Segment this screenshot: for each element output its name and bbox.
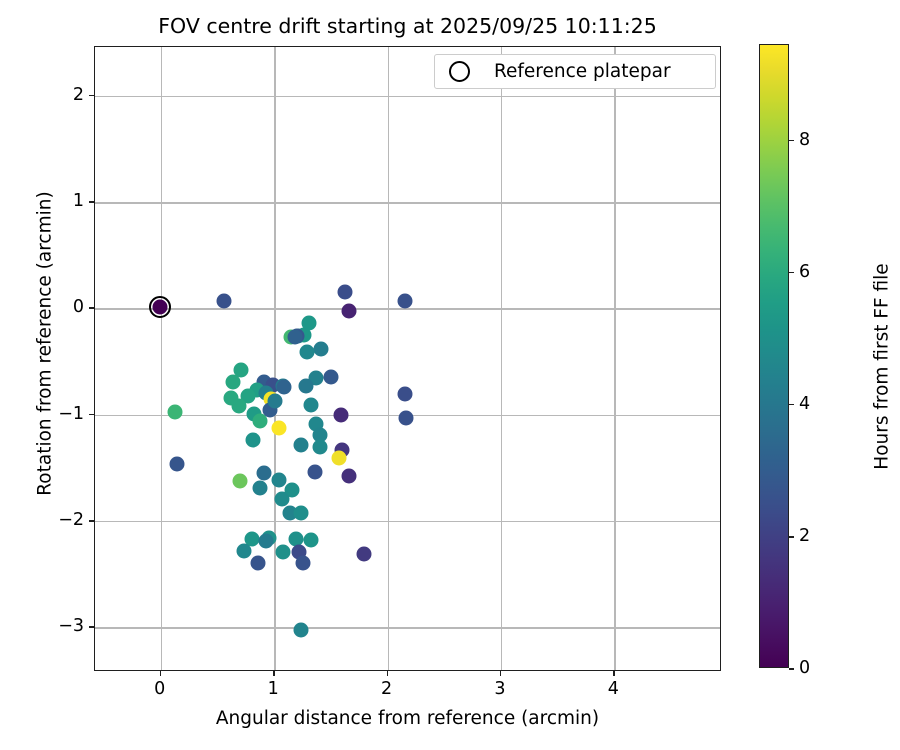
x-tick-mark — [160, 671, 162, 676]
scatter-point — [252, 481, 267, 496]
scatter-point — [294, 437, 309, 452]
scatter-point — [337, 284, 352, 299]
y-tick-mark — [89, 201, 94, 203]
x-tick-label: 3 — [494, 679, 505, 699]
gridline-horizontal — [95, 627, 720, 628]
gridline-vertical — [161, 47, 162, 670]
scatter-point — [312, 439, 327, 454]
scatter-point — [236, 543, 251, 558]
scatter-point — [251, 555, 266, 570]
scatter-point — [169, 456, 184, 471]
x-tick-label: 0 — [154, 679, 165, 699]
scatter-point — [398, 411, 413, 426]
gridline-horizontal — [95, 96, 720, 97]
scatter-point — [295, 555, 310, 570]
gridline-horizontal — [95, 521, 720, 522]
x-tick-mark — [387, 671, 389, 676]
scatter-point — [268, 394, 283, 409]
x-tick-label: 4 — [608, 679, 619, 699]
x-tick-mark — [500, 671, 502, 676]
legend-entry-label: Reference platepar — [494, 61, 671, 82]
colorbar-tick-mark — [789, 404, 794, 406]
scatter-point — [342, 469, 357, 484]
colorbar-tick-mark — [789, 668, 794, 670]
scatter-point — [300, 345, 315, 360]
scatter-point — [308, 465, 323, 480]
scatter-point — [167, 404, 182, 419]
scatter-point — [217, 294, 232, 309]
colorbar-tick-label: 0 — [799, 658, 810, 678]
scatter-point — [313, 341, 328, 356]
gridline-horizontal — [95, 308, 720, 309]
gridline-vertical — [501, 47, 502, 670]
y-tick-label: 1 — [73, 191, 84, 211]
scatter-point — [276, 544, 291, 559]
x-tick-mark — [273, 671, 275, 676]
colorbar-tick-mark — [789, 272, 794, 274]
scatter-point — [277, 380, 292, 395]
y-tick-mark — [89, 307, 94, 309]
scatter-point — [294, 622, 309, 637]
y-tick-label: −3 — [58, 616, 84, 636]
gridline-vertical — [388, 47, 389, 670]
y-tick-label: 0 — [73, 297, 84, 317]
scatter-point — [257, 466, 272, 481]
colorbar-tick-label: 4 — [799, 394, 810, 414]
scatter-point — [331, 451, 346, 466]
y-tick-mark — [89, 95, 94, 97]
scatter-point — [275, 491, 290, 506]
chart-title: FOV centre drift starting at 2025/09/25 … — [0, 14, 815, 38]
scatter-point — [323, 369, 338, 384]
colorbar-gradient — [759, 44, 789, 668]
x-axis-label: Angular distance from reference (arcmin) — [94, 708, 721, 729]
colorbar-label: Hours from first FF file — [872, 47, 893, 687]
x-tick-label: 1 — [268, 679, 279, 699]
y-tick-label: −2 — [58, 510, 84, 530]
scatter-point — [233, 473, 248, 488]
scatter-point — [356, 547, 371, 562]
figure-canvas: FOV centre drift starting at 2025/09/25 … — [0, 0, 900, 750]
scatter-point — [342, 303, 357, 318]
scatter-point — [259, 534, 274, 549]
y-tick-mark — [89, 520, 94, 522]
colorbar-tick-mark — [789, 536, 794, 538]
gridline-horizontal — [95, 202, 720, 203]
gridline-vertical — [274, 47, 275, 670]
scatter-point — [245, 433, 260, 448]
y-tick-mark — [89, 626, 94, 628]
colorbar-tick-label: 8 — [799, 130, 810, 150]
scatter-point — [397, 386, 412, 401]
scatter-point — [334, 407, 349, 422]
y-tick-label: −1 — [58, 404, 84, 424]
legend-box[interactable]: Reference platepar — [434, 54, 716, 89]
colorbar-tick-label: 6 — [799, 262, 810, 282]
x-tick-mark — [613, 671, 615, 676]
gridline-vertical — [614, 47, 615, 670]
y-axis-label: Rotation from reference (arcmin) — [35, 24, 56, 664]
scatter-point — [294, 505, 309, 520]
plot-area[interactable] — [94, 46, 721, 671]
y-tick-mark — [89, 414, 94, 416]
scatter-point — [271, 420, 286, 435]
y-tick-label: 2 — [73, 85, 84, 105]
colorbar-tick-mark — [789, 140, 794, 142]
scatter-point — [226, 374, 241, 389]
reference-platepar-point — [149, 296, 171, 318]
scatter-point — [224, 390, 239, 405]
scatter-point — [287, 330, 302, 345]
x-tick-label: 2 — [381, 679, 392, 699]
scatter-point — [303, 398, 318, 413]
scatter-point — [271, 472, 286, 487]
reference-platepar-marker-icon — [449, 61, 470, 82]
colorbar-tick-label: 2 — [799, 526, 810, 546]
scatter-point — [299, 379, 314, 394]
scatter-point — [303, 533, 318, 548]
scatter-point — [252, 414, 267, 429]
scatter-point — [397, 294, 412, 309]
